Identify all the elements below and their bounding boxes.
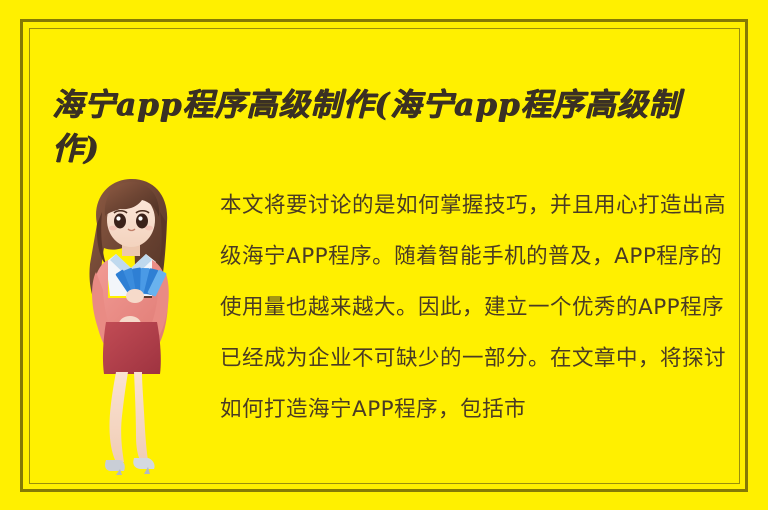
leg-right xyxy=(134,372,148,460)
article-page: 海宁app程序高级制作(海宁app程序高级制作) xyxy=(0,0,768,510)
article-paragraph: 本文将要讨论的是如何掌握技巧，并且用心打造出高级海宁APP程序。随着智能手机的普… xyxy=(220,180,740,435)
eye-left xyxy=(114,214,126,229)
eye-highlight-left xyxy=(116,216,120,220)
article-body: 本文将要讨论的是如何掌握技巧，并且用心打造出高级海宁APP程序。随着智能手机的普… xyxy=(220,180,740,478)
eye-right xyxy=(136,214,148,229)
shoe-right xyxy=(133,458,154,469)
eye-highlight-right xyxy=(138,216,142,220)
hand-upper xyxy=(126,289,144,303)
anime-girl-illustration xyxy=(72,172,192,477)
leg-left xyxy=(109,372,128,462)
shoe-left xyxy=(105,460,125,471)
skirt xyxy=(103,322,161,374)
anime-girl-figure xyxy=(72,172,192,477)
page-title: 海宁app程序高级制作(海宁app程序高级制作) xyxy=(52,83,728,171)
blush-left xyxy=(109,226,117,231)
blush-right xyxy=(145,226,153,231)
